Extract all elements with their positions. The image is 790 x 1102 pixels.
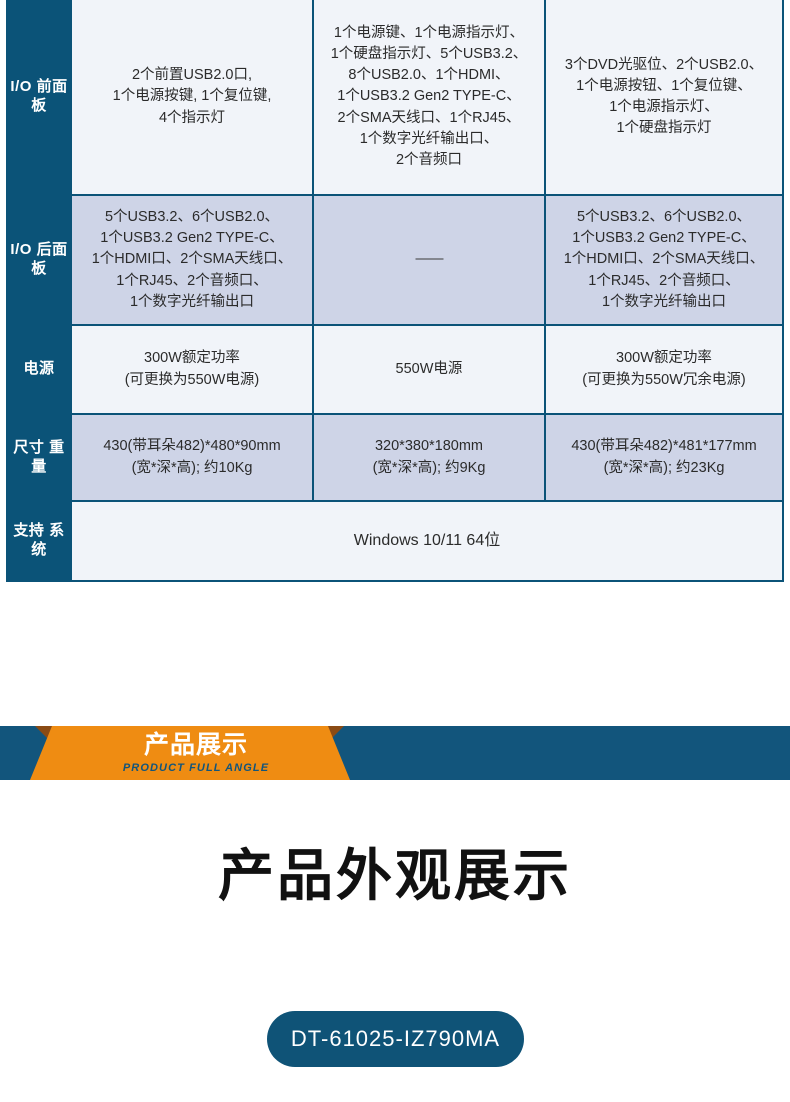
table-cell: 1个电源键、1个电源指示灯、 1个硬盘指示灯、5个USB3.2、 8个USB2.… xyxy=(314,0,546,194)
banner-title-english: PRODUCT FULL ANGLE xyxy=(123,763,269,774)
table-row: 支持 系统 Windows 10/11 64位 xyxy=(6,502,782,580)
table-cell: 300W额定功率 (可更换为550W冗余电源) xyxy=(546,326,782,413)
row-label-power: 电源 xyxy=(6,326,72,413)
banner-text-group: 产品展示 PRODUCT FULL ANGLE xyxy=(30,726,350,780)
page-title: 产品外观展示 xyxy=(0,845,790,907)
row-cells: 300W额定功率 (可更换为550W电源) 550W电源 300W额定功率 (可… xyxy=(72,326,782,413)
table-row: 尺寸 重量 430(带耳朵482)*480*90mm (宽*深*高); 约10K… xyxy=(6,415,782,502)
banner-title-chinese: 产品展示 xyxy=(144,733,248,758)
table-cell: 5个USB3.2、6个USB2.0、 1个USB3.2 Gen2 TYPE-C、… xyxy=(72,196,314,324)
product-spec-page: I/O 前面板 2个前置USB2.0口, 1个电源按键, 1个复位键, 4个指示… xyxy=(0,0,790,1102)
table-cell: 5个USB3.2、6个USB2.0、 1个USB3.2 Gen2 TYPE-C、… xyxy=(546,196,782,324)
table-cell: 300W额定功率 (可更换为550W电源) xyxy=(72,326,314,413)
row-cells: Windows 10/11 64位 xyxy=(72,502,782,580)
table-row: I/O 后面板 5个USB3.2、6个USB2.0、 1个USB3.2 Gen2… xyxy=(6,196,782,326)
table-cell: 550W电源 xyxy=(314,326,546,413)
row-cells: 430(带耳朵482)*480*90mm (宽*深*高); 约10Kg 320*… xyxy=(72,415,782,500)
row-cells: 5个USB3.2、6个USB2.0、 1个USB3.2 Gen2 TYPE-C、… xyxy=(72,196,782,324)
table-cell: 430(带耳朵482)*480*90mm (宽*深*高); 约10Kg xyxy=(72,415,314,500)
table-row: I/O 前面板 2个前置USB2.0口, 1个电源按键, 1个复位键, 4个指示… xyxy=(6,0,782,196)
table-cell: Windows 10/11 64位 xyxy=(72,502,782,580)
table-cell: 3个DVD光驱位、2个USB2.0、 1个电源按钮、1个复位键、 1个电源指示灯… xyxy=(546,0,782,194)
row-label-size-weight: 尺寸 重量 xyxy=(6,415,72,500)
row-label-io-front: I/O 前面板 xyxy=(6,0,72,194)
row-cells: 2个前置USB2.0口, 1个电源按键, 1个复位键, 4个指示灯 1个电源键、… xyxy=(72,0,782,194)
table-cell: 430(带耳朵482)*481*177mm (宽*深*高); 约23Kg xyxy=(546,415,782,500)
specification-table: I/O 前面板 2个前置USB2.0口, 1个电源按键, 1个复位键, 4个指示… xyxy=(6,0,784,582)
hero-section: 产品外观展示 xyxy=(0,845,790,907)
row-label-os: 支持 系统 xyxy=(6,502,72,580)
model-number-button[interactable]: DT-61025-IZ790MA xyxy=(267,1011,524,1067)
table-cell: 320*380*180mm (宽*深*高); 约9Kg xyxy=(314,415,546,500)
table-cell-empty: —— xyxy=(314,196,546,324)
table-row: 电源 300W额定功率 (可更换为550W电源) 550W电源 300W额定功率… xyxy=(6,326,782,415)
section-banner: 产品展示 PRODUCT FULL ANGLE xyxy=(0,712,790,780)
table-cell: 2个前置USB2.0口, 1个电源按键, 1个复位键, 4个指示灯 xyxy=(72,0,314,194)
row-label-io-back: I/O 后面板 xyxy=(6,196,72,324)
